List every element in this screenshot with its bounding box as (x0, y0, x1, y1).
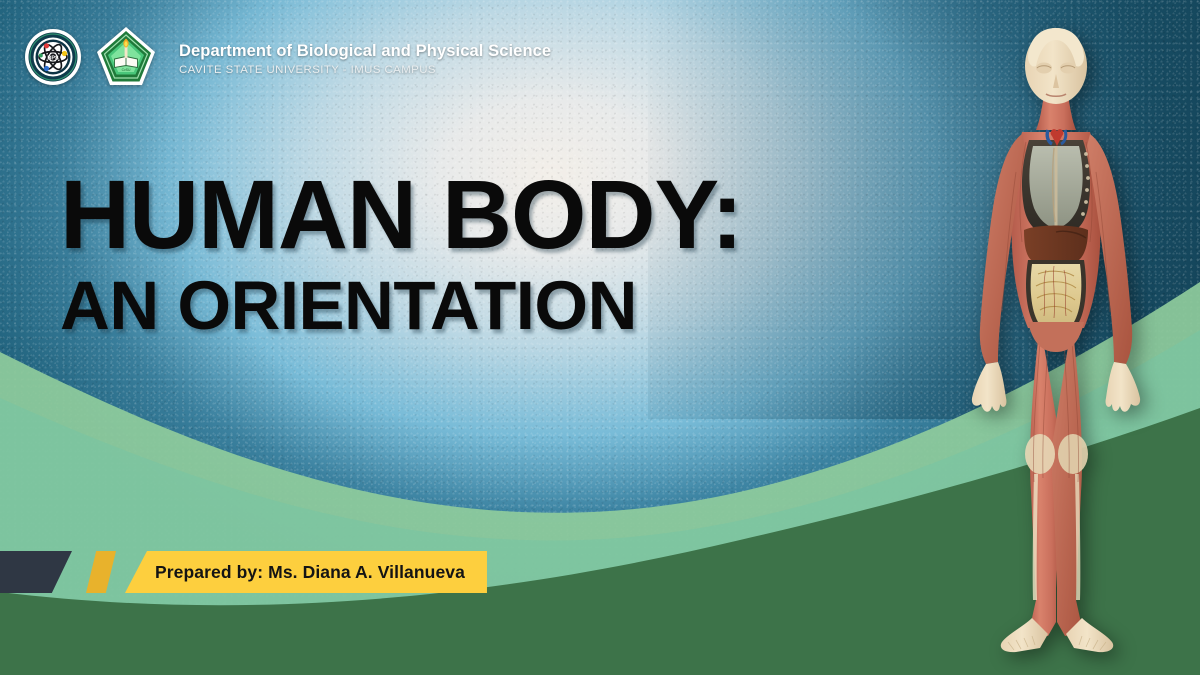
prepared-by-text: Prepared by: Ms. Diana A. Villanueva (155, 562, 465, 583)
human-anatomy-illustration (936, 22, 1176, 658)
page-title: HUMAN BODY: (60, 168, 742, 261)
header: BPS CvSU Department of Biological a (24, 26, 551, 93)
campus-name: CAVITE STATE UNIVERSITY - IMUS CAMPUS (179, 64, 551, 77)
title-block: HUMAN BODY: AN ORIENTATION (60, 168, 742, 340)
page-subtitle: AN ORIENTATION (60, 271, 742, 340)
atom-seal-icon: BPS (24, 28, 82, 91)
prepared-by-banner: Prepared by: Ms. Diana A. Villanueva (0, 551, 487, 593)
banner-gold-slash (86, 551, 116, 593)
university-seal-icon: CvSU (95, 26, 157, 93)
department-name: Department of Biological and Physical Sc… (179, 42, 551, 61)
banner-yellow-plate: Prepared by: Ms. Diana A. Villanueva (125, 551, 487, 593)
svg-text:BPS: BPS (47, 56, 59, 62)
title-slide: BPS CvSU Department of Biological a (0, 0, 1200, 675)
banner-dark-tag (0, 551, 72, 593)
svg-text:CvSU: CvSU (122, 68, 131, 72)
